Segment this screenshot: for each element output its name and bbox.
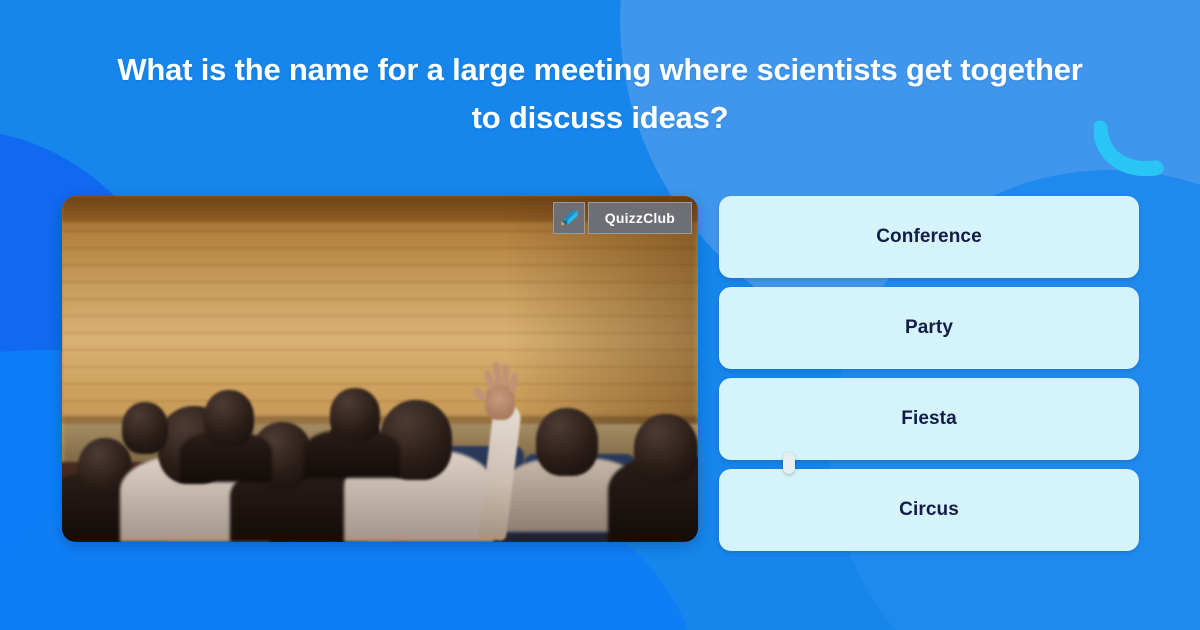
finger [501,364,509,387]
answer-option-4[interactable]: Circus [719,469,1139,551]
answer-options-list: Conference Party Fiesta Circus [719,196,1139,551]
audience-head [536,408,598,476]
quiz-card: What is the name for a large meeting whe… [0,0,1200,630]
answer-option-label: Conference [876,226,982,248]
scroll-thumb[interactable] [783,452,795,474]
question-image-card: QuizzClub [62,196,698,542]
cyan-arc-icon [1094,118,1164,180]
audience-head [330,388,380,442]
answer-option-label: Fiesta [901,408,957,430]
watermark: QuizzClub [553,202,692,234]
question-text: What is the name for a large meeting whe… [100,46,1100,142]
answer-option-3[interactable]: Fiesta [719,378,1139,460]
answer-option-2[interactable]: Party [719,287,1139,369]
audience-head [634,414,698,484]
graduation-cap-icon [553,202,585,234]
watermark-brand-label: QuizzClub [588,202,692,234]
answer-option-label: Party [905,317,953,339]
audience-head [204,390,254,446]
answer-option-label: Circus [899,499,959,521]
answer-option-1[interactable]: Conference [719,196,1139,278]
audience-head [122,402,168,454]
lecture-hall-photo [62,196,698,542]
